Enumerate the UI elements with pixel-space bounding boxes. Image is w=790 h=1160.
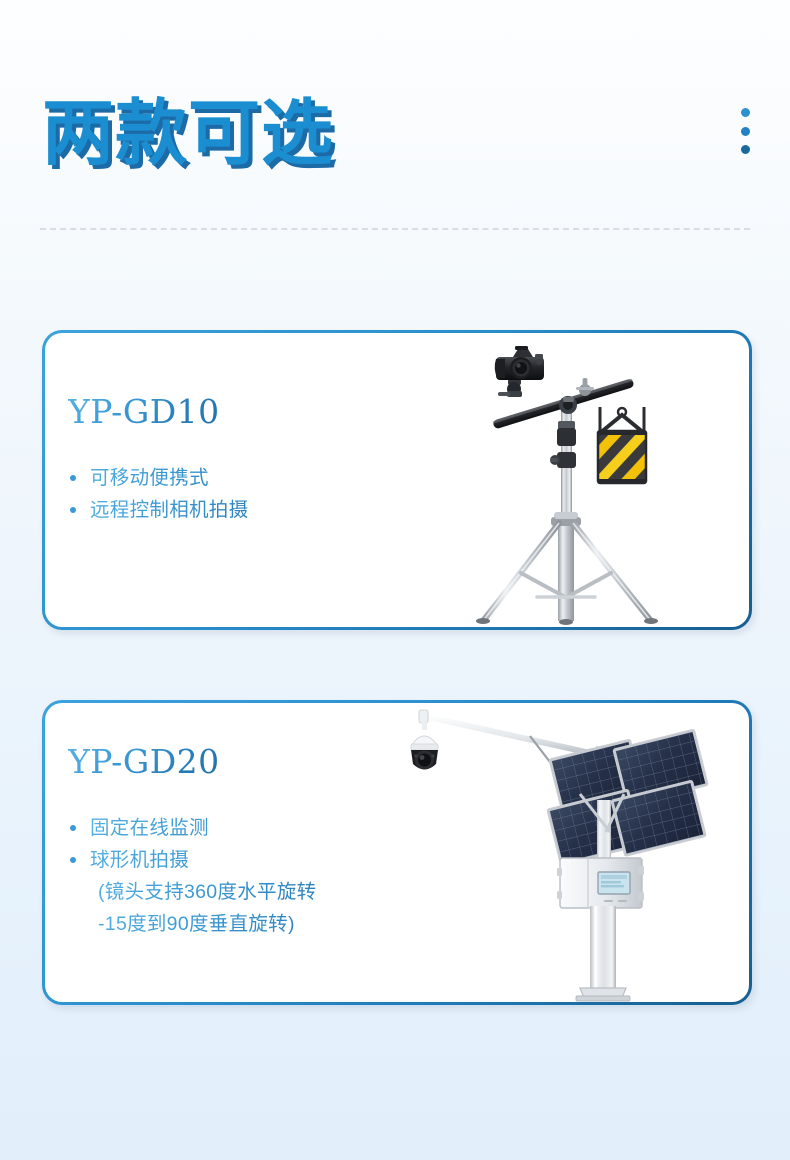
feature-text: 远程控制相机拍摄 xyxy=(90,499,248,521)
page-header: 两款可选 xyxy=(0,0,790,240)
model-name-yp-gd10: YP-GD10 xyxy=(68,392,220,431)
kebab-dot-3 xyxy=(741,145,750,154)
list-item: 球形机拍摄 xyxy=(68,844,316,876)
bullet-dot-icon xyxy=(70,857,76,863)
solar-ptz-monitoring-pole-product-image xyxy=(400,702,750,1002)
feature-text: 可移动便携式 xyxy=(90,467,209,489)
list-item: 远程控制相机拍摄 xyxy=(68,494,248,526)
bullet-dot-icon xyxy=(70,507,76,513)
bullet-dot-icon xyxy=(70,825,76,831)
header-divider xyxy=(40,228,750,230)
feature-list-yp-gd10: 可移动便携式 远程控制相机拍摄 xyxy=(68,462,248,526)
list-item-continuation: (镜头支持360度水平旋转 xyxy=(68,876,316,908)
list-item: 固定在线监测 xyxy=(68,812,316,844)
feature-list-yp-gd20: 固定在线监测 球形机拍摄 (镜头支持360度水平旋转 -15度到90度垂直旋转) xyxy=(68,812,316,940)
kebab-menu-icon[interactable] xyxy=(738,108,752,154)
model-name-yp-gd20: YP-GD20 xyxy=(68,742,220,781)
feature-text: 球形机拍摄 xyxy=(90,849,189,871)
portable-tripod-camera-product-image xyxy=(455,335,750,627)
kebab-dot-2 xyxy=(741,127,750,136)
kebab-dot-1 xyxy=(741,108,750,117)
feature-subtext-line-2: -15度到90度垂直旋转) xyxy=(90,908,316,940)
product-options-page: 两款可选 YP-GD10 可移动便携式 远程控制相机拍摄 xyxy=(0,0,790,1160)
list-item-continuation: -15度到90度垂直旋转) xyxy=(68,908,316,940)
bullet-dot-icon xyxy=(70,475,76,481)
feature-subtext-line-1: (镜头支持360度水平旋转 xyxy=(90,876,316,908)
model-name-yp-gd20-wrap: YP-GD20 xyxy=(68,742,220,781)
list-item: 可移动便携式 xyxy=(68,462,248,494)
feature-text: 固定在线监测 xyxy=(90,817,209,839)
page-title: 两款可选 xyxy=(42,94,334,172)
model-name-yp-gd10-wrap: YP-GD10 xyxy=(68,392,220,431)
